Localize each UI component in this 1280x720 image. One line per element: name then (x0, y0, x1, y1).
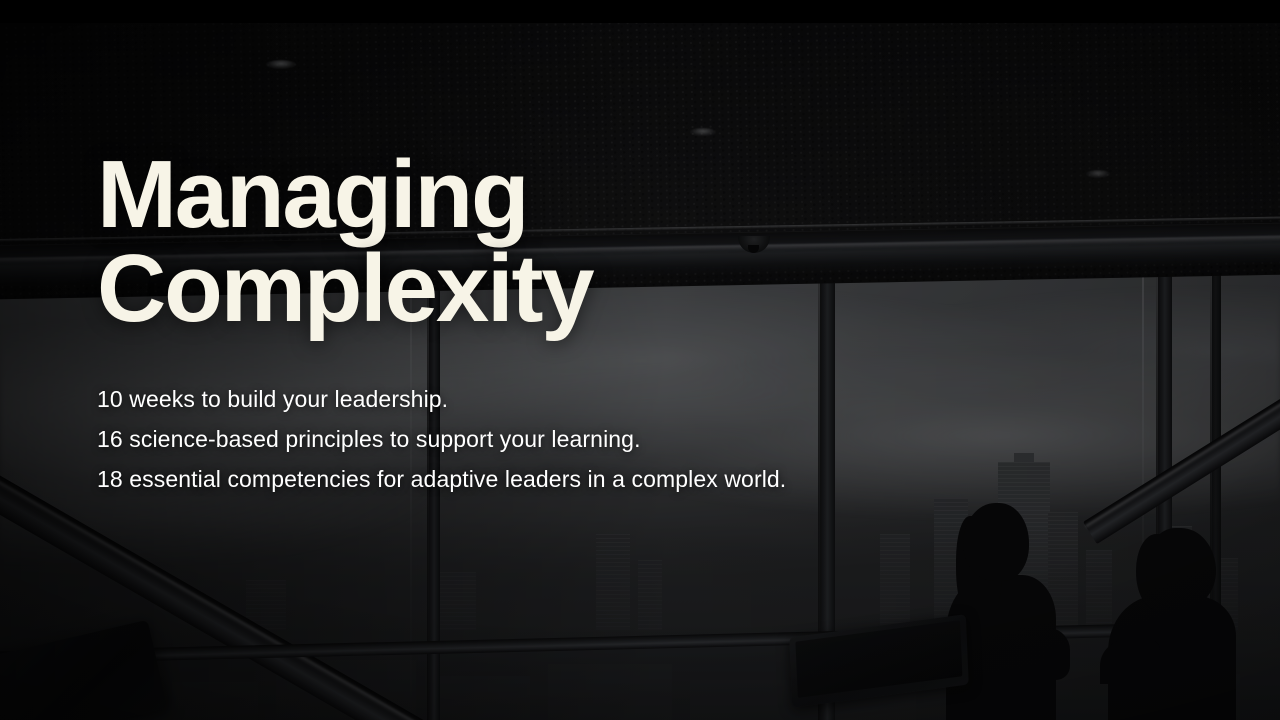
title-line-1: Managing (97, 148, 1097, 242)
presentation-slide: Managing Complexity 10 weeks to build yo… (0, 0, 1280, 720)
slide-content: Managing Complexity 10 weeks to build yo… (97, 0, 1097, 508)
letterbox-bar-top (0, 0, 1280, 23)
list-item: 10 weeks to build your leadership. (97, 388, 1097, 411)
title-line-2: Complexity (97, 242, 1097, 336)
list-item: 16 science-based principles to support y… (97, 428, 1097, 451)
key-facts-list: 10 weeks to build your leadership. 16 sc… (97, 388, 1097, 491)
page-title: Managing Complexity (97, 148, 1097, 336)
list-item: 18 essential competencies for adaptive l… (97, 468, 1097, 491)
